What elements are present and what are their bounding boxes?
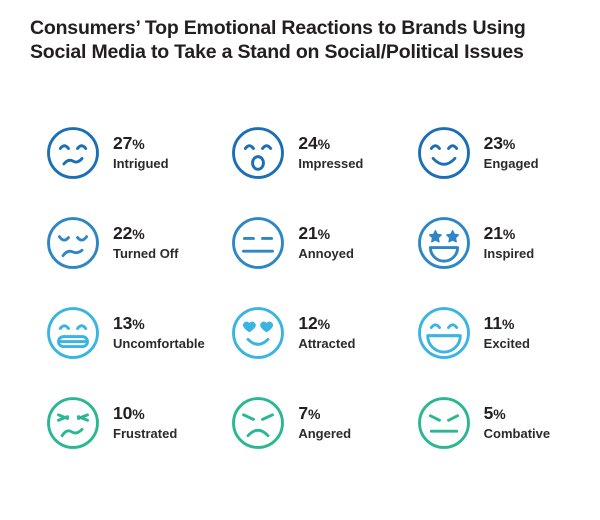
infographic-page: Consumers’ Top Emotional Reactions to Br… bbox=[0, 0, 600, 520]
page-title-line-1: Consumers’ Top Emotional Reactions to Br… bbox=[30, 16, 578, 40]
reaction-text: 24%Impressed bbox=[298, 133, 363, 173]
reaction-label: Annoyed bbox=[298, 245, 354, 263]
reaction-percentage: 21% bbox=[298, 223, 354, 244]
reaction-text: 23%Engaged bbox=[484, 133, 539, 173]
face-angered-icon bbox=[229, 394, 287, 452]
reaction-text: 21%Inspired bbox=[484, 223, 535, 263]
reaction-percentage-value: 5 bbox=[484, 403, 494, 423]
reaction-percentage-unit: % bbox=[493, 406, 505, 422]
reaction-label: Attracted bbox=[298, 335, 355, 353]
reaction-percentage-unit: % bbox=[318, 226, 330, 242]
page-title-line-2: Social Media to Take a Stand on Social/P… bbox=[30, 40, 578, 64]
reaction-item: 5%Combative bbox=[393, 378, 578, 468]
face-combative-icon bbox=[415, 394, 473, 452]
reaction-label: Intrigued bbox=[113, 155, 169, 173]
reaction-label: Inspired bbox=[484, 245, 535, 263]
face-excited-icon bbox=[415, 304, 473, 362]
reaction-percentage-unit: % bbox=[132, 136, 144, 152]
face-annoyed-icon bbox=[229, 214, 287, 272]
reaction-percentage-unit: % bbox=[132, 226, 144, 242]
reaction-text: 22%Turned Off bbox=[113, 223, 178, 263]
reaction-label: Impressed bbox=[298, 155, 363, 173]
reaction-percentage-unit: % bbox=[318, 316, 330, 332]
reaction-label: Turned Off bbox=[113, 245, 178, 263]
reaction-percentage-value: 24 bbox=[298, 133, 317, 153]
reaction-item: 10%Frustrated bbox=[22, 378, 207, 468]
face-uncomfortable-icon bbox=[44, 304, 102, 362]
reaction-item: 7%Angered bbox=[207, 378, 392, 468]
reaction-item: 13%Uncomfortable bbox=[22, 288, 207, 378]
reaction-percentage-value: 11 bbox=[484, 313, 502, 333]
reaction-item: 11%Excited bbox=[393, 288, 578, 378]
reaction-percentage-unit: % bbox=[132, 406, 144, 422]
reaction-percentage-value: 21 bbox=[484, 223, 503, 243]
reaction-item: 21%Annoyed bbox=[207, 198, 392, 288]
reaction-percentage-value: 13 bbox=[113, 313, 132, 333]
reaction-percentage-value: 12 bbox=[298, 313, 317, 333]
reaction-label: Excited bbox=[484, 335, 530, 353]
reaction-percentage: 7% bbox=[298, 403, 351, 424]
reaction-item: 27%Intrigued bbox=[22, 108, 207, 198]
reaction-item: 24%Impressed bbox=[207, 108, 392, 198]
reaction-percentage-value: 21 bbox=[298, 223, 317, 243]
reaction-text: 21%Annoyed bbox=[298, 223, 354, 263]
reaction-label: Engaged bbox=[484, 155, 539, 173]
reaction-percentage-value: 23 bbox=[484, 133, 503, 153]
reaction-percentage: 12% bbox=[298, 313, 355, 334]
face-attracted-icon bbox=[229, 304, 287, 362]
face-intrigued-icon bbox=[44, 124, 102, 182]
reaction-percentage: 10% bbox=[113, 403, 177, 424]
reaction-percentage-unit: % bbox=[318, 136, 330, 152]
reaction-percentage-unit: % bbox=[503, 226, 515, 242]
reaction-percentage-unit: % bbox=[503, 136, 515, 152]
reaction-label: Frustrated bbox=[113, 425, 177, 443]
reaction-percentage: 27% bbox=[113, 133, 169, 154]
reaction-text: 13%Uncomfortable bbox=[113, 313, 205, 353]
reaction-percentage-unit: % bbox=[132, 316, 144, 332]
reaction-text: 5%Combative bbox=[484, 403, 550, 443]
reaction-text: 27%Intrigued bbox=[113, 133, 169, 173]
reaction-label: Combative bbox=[484, 425, 550, 443]
face-turned-off-icon bbox=[44, 214, 102, 272]
reaction-percentage: 24% bbox=[298, 133, 363, 154]
reaction-item: 23%Engaged bbox=[393, 108, 578, 198]
reaction-percentage-unit: % bbox=[502, 316, 514, 332]
reaction-percentage: 23% bbox=[484, 133, 539, 154]
page-title: Consumers’ Top Emotional Reactions to Br… bbox=[30, 16, 578, 64]
reaction-item: 12%Attracted bbox=[207, 288, 392, 378]
face-frustrated-icon bbox=[44, 394, 102, 452]
reaction-percentage: 5% bbox=[484, 403, 550, 424]
reaction-percentage-value: 7 bbox=[298, 403, 308, 423]
reaction-percentage-unit: % bbox=[308, 406, 320, 422]
reaction-item: 22%Turned Off bbox=[22, 198, 207, 288]
reaction-percentage: 22% bbox=[113, 223, 178, 244]
reaction-text: 11%Excited bbox=[484, 313, 530, 353]
reaction-label: Angered bbox=[298, 425, 351, 443]
reaction-percentage: 13% bbox=[113, 313, 205, 334]
reaction-percentage-value: 22 bbox=[113, 223, 132, 243]
reaction-text: 12%Attracted bbox=[298, 313, 355, 353]
face-engaged-icon bbox=[415, 124, 473, 182]
reaction-grid: 27%Intrigued24%Impressed23%Engaged22%Tur… bbox=[22, 108, 578, 468]
face-inspired-icon bbox=[415, 214, 473, 272]
reaction-percentage: 21% bbox=[484, 223, 535, 244]
reaction-percentage-value: 10 bbox=[113, 403, 132, 423]
reaction-text: 10%Frustrated bbox=[113, 403, 177, 443]
reaction-percentage-value: 27 bbox=[113, 133, 132, 153]
reaction-item: 21%Inspired bbox=[393, 198, 578, 288]
reaction-label: Uncomfortable bbox=[113, 335, 205, 353]
face-impressed-icon bbox=[229, 124, 287, 182]
reaction-text: 7%Angered bbox=[298, 403, 351, 443]
reaction-percentage: 11% bbox=[484, 313, 530, 334]
